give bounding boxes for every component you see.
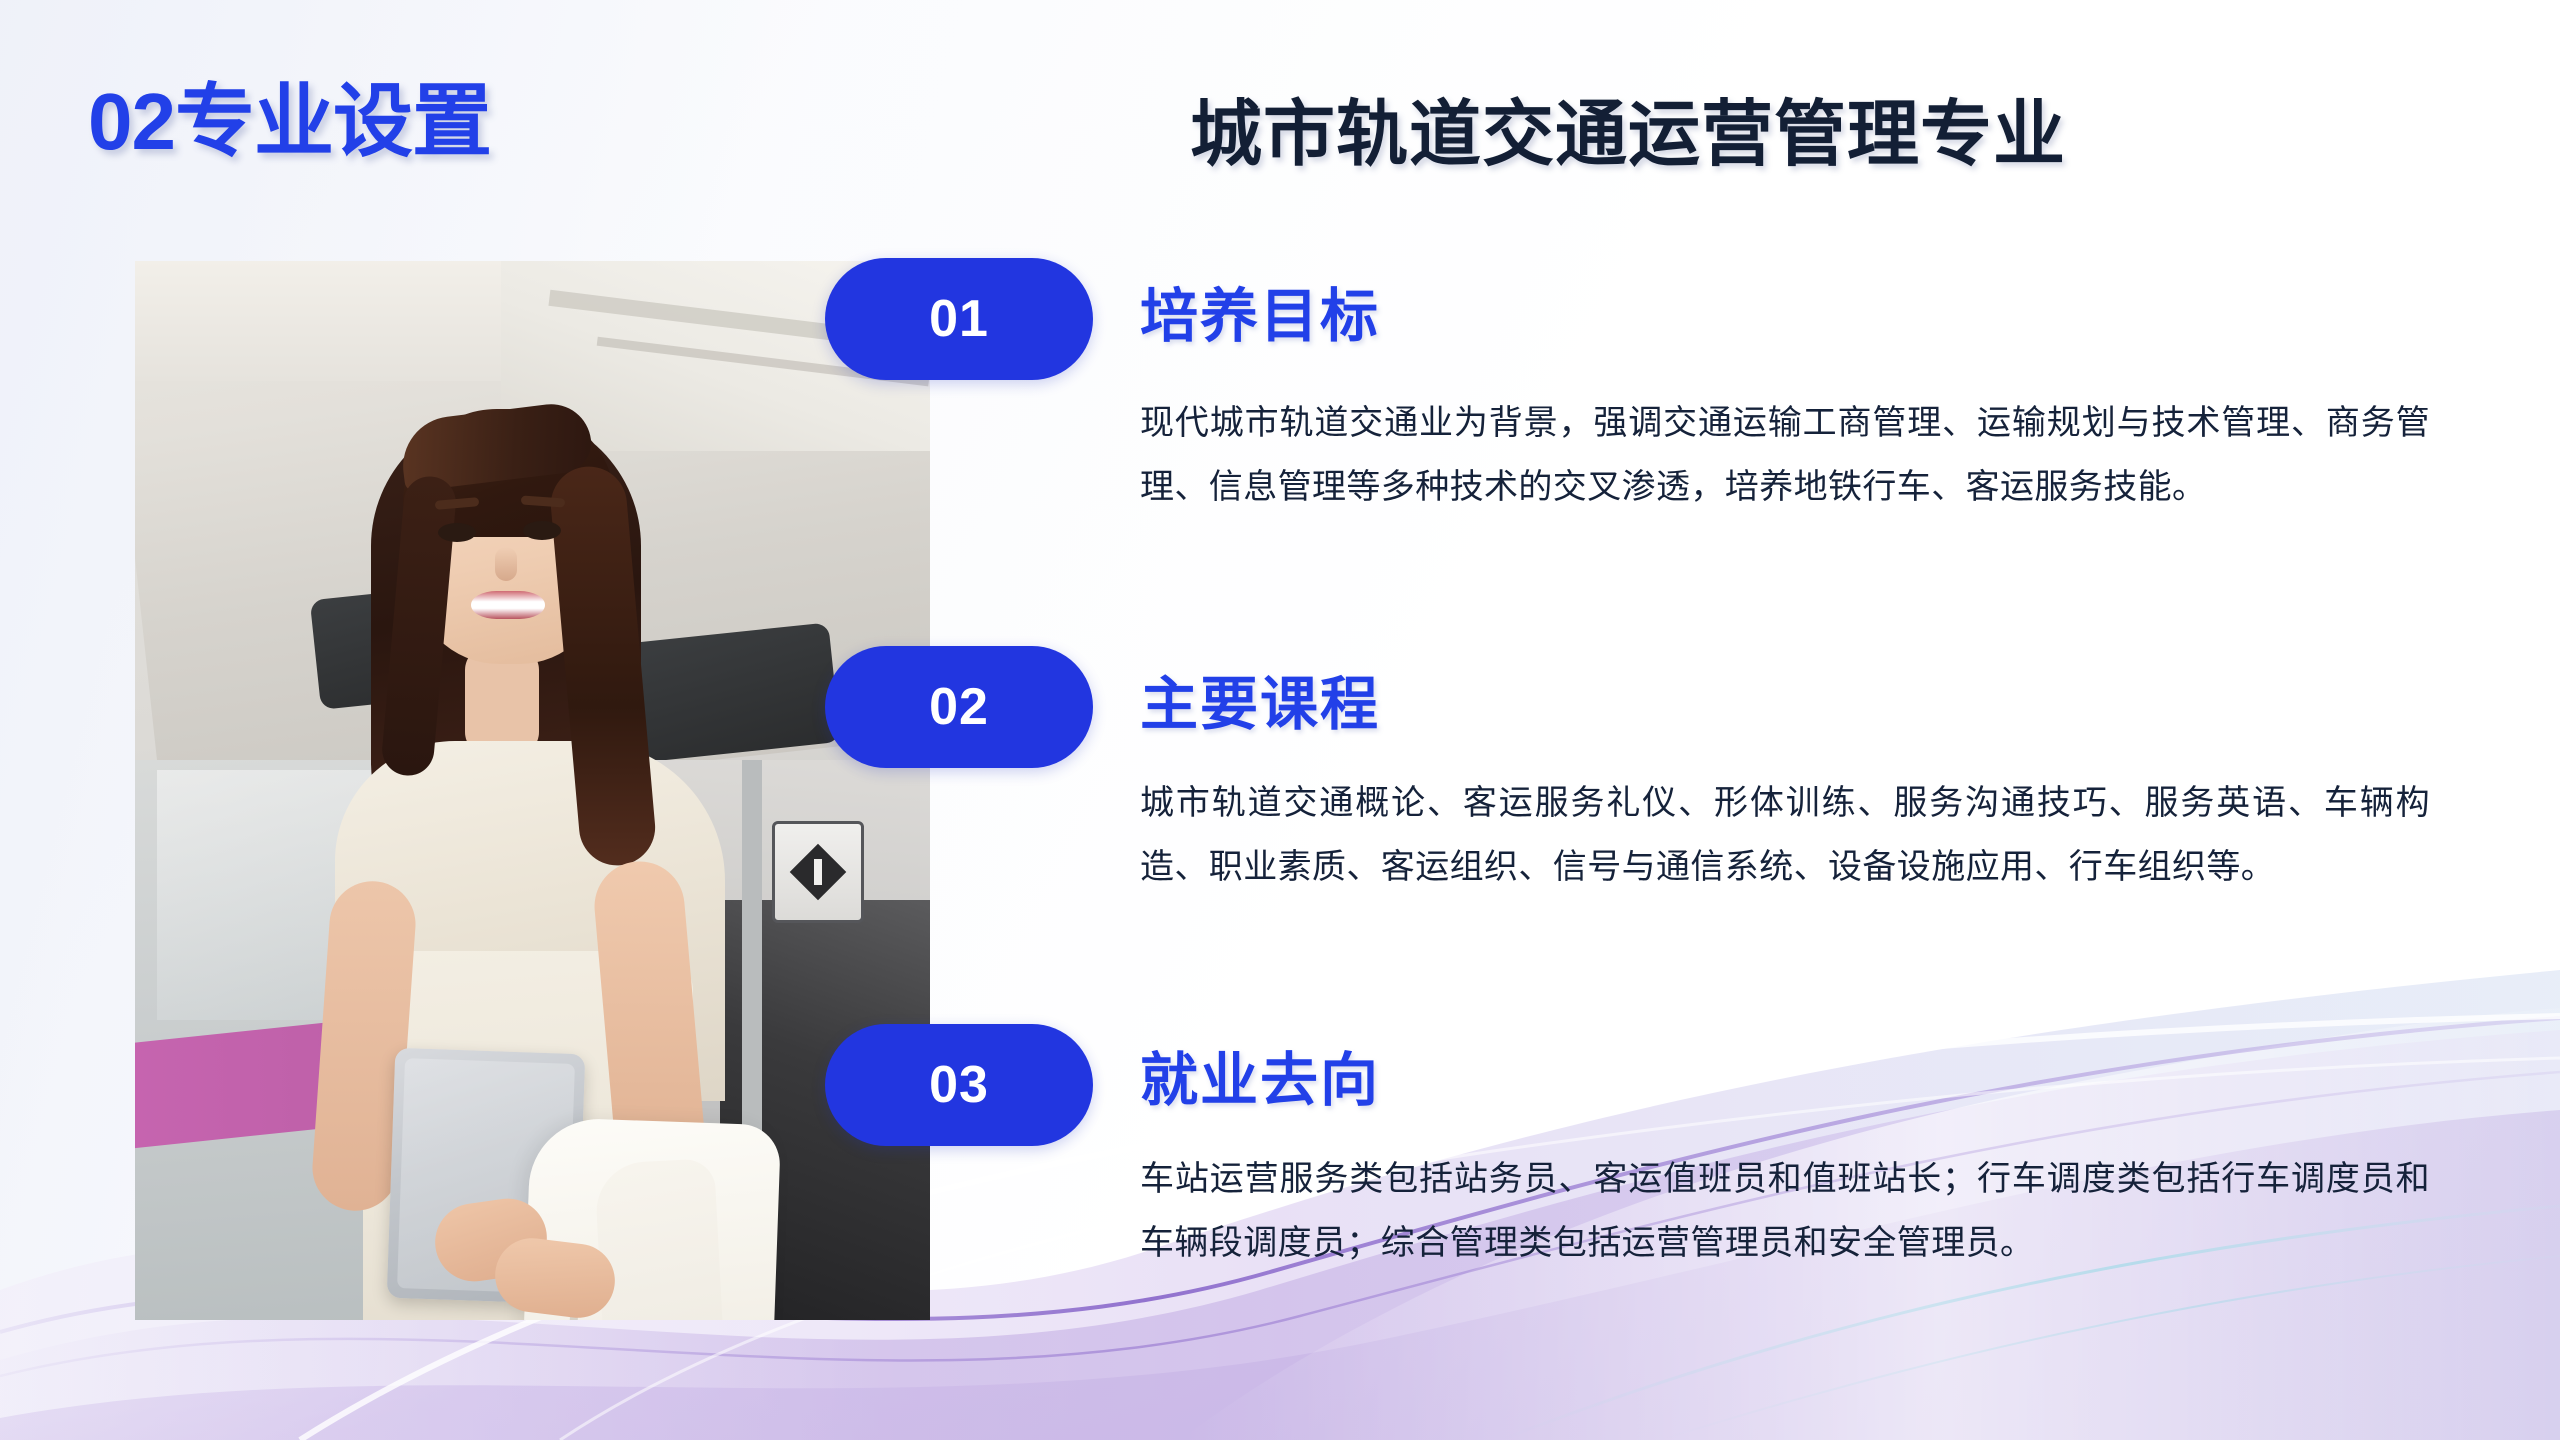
- section-title-01: 培养目标: [1140, 288, 1380, 346]
- section-badge-02[interactable]: 02: [825, 646, 1093, 768]
- platform-warning-sign: [772, 821, 864, 923]
- section-label: 02专业设置: [88, 78, 491, 166]
- section-title-02: 主要课程: [1140, 676, 1380, 734]
- section-title-03: 就业去向: [1140, 1052, 1380, 1110]
- section-body-01: 现代城市轨道交通业为背景，强调交通运输工商管理、运输规划与技术管理、商务管理、信…: [1140, 392, 2430, 519]
- page-title: 城市轨道交通运营管理专业: [1190, 96, 2066, 175]
- slide-canvas: 02专业设置 城市轨道交通运营管理专业: [0, 0, 2560, 1440]
- section-body-02: 城市轨道交通概论、客运服务礼仪、形体训练、服务沟通技巧、服务英语、车辆构造、职业…: [1140, 772, 2430, 899]
- section-body-03: 车站运营服务类包括站务员、客运值班员和值班站长；行车调度类包括行车调度员和车辆段…: [1140, 1148, 2430, 1275]
- section-badge-01[interactable]: 01: [825, 258, 1093, 380]
- section-badge-03[interactable]: 03: [825, 1024, 1093, 1146]
- student-photo: [135, 261, 930, 1320]
